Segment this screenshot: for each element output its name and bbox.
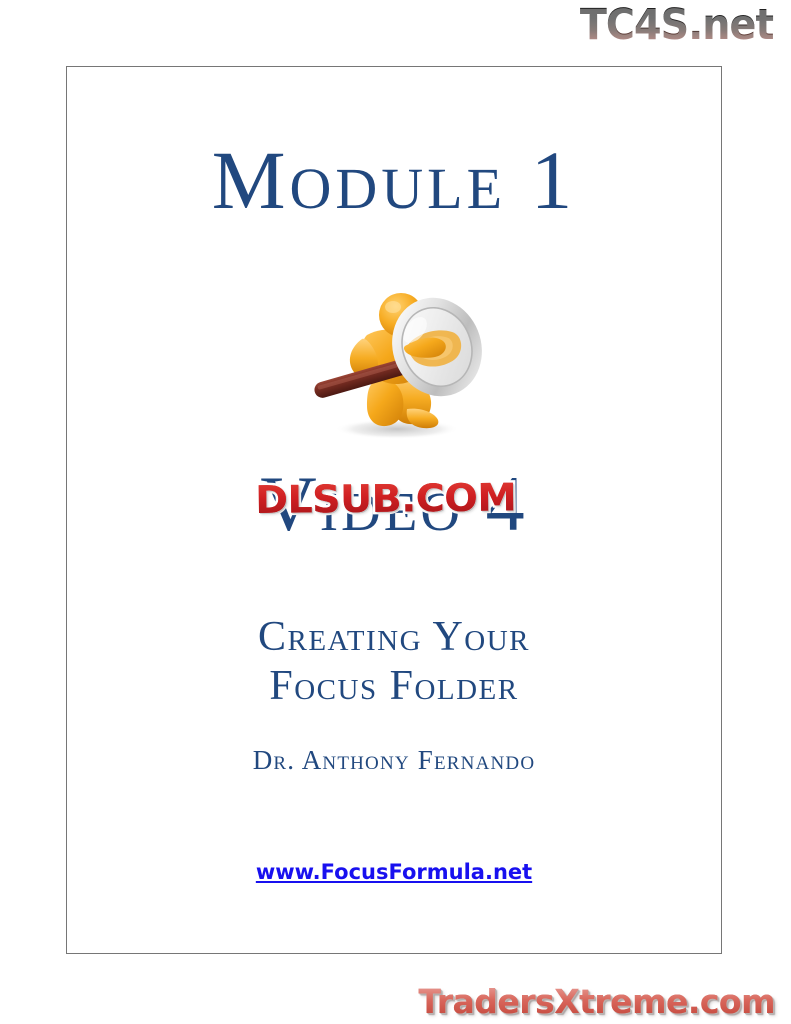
watermark-tc4s: TC4S.net — [579, 4, 773, 47]
document-page-border: Module 1 — [66, 66, 722, 954]
watermark-tradersxtreme-fill: TradersXtreme.com — [418, 985, 775, 1018]
page-subtitle-line-2: Focus Folder — [67, 662, 721, 711]
watermark-dlsub: DLSUB.COM — [255, 478, 516, 519]
page-subtitle: Creating Your Focus Folder — [67, 613, 721, 711]
detective-magnifier-icon — [289, 277, 499, 442]
website-link[interactable]: www.FocusFormula.net — [256, 860, 532, 884]
author-name: Dr. Anthony Fernando — [67, 747, 721, 774]
page-subtitle-line-1: Creating Your — [258, 614, 530, 660]
page-title-module: Module 1 — [67, 139, 721, 222]
website-link-container: www.FocusFormula.net — [67, 860, 721, 884]
illustration-container — [67, 277, 721, 442]
cover-page-canvas: TC4S.net TC4S.net Module 1 — [0, 0, 791, 1024]
